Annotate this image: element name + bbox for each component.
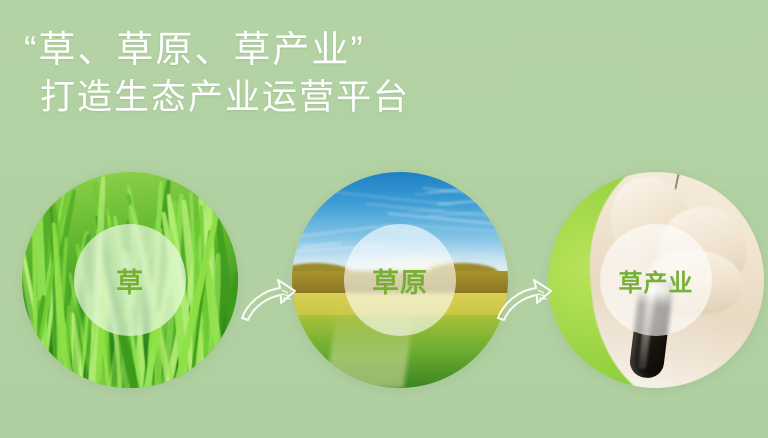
stage-badge-grassland: 草原 (344, 224, 456, 336)
stage-circle-grass[interactable]: 草 (22, 172, 238, 388)
stage-badge-grass-industry: 草产业 (600, 224, 712, 336)
stage-badge-grass: 草 (74, 224, 186, 336)
stage-label-grassland: 草原 (372, 261, 428, 300)
curved-arrow-icon (494, 272, 556, 324)
page-title: “草、草原、草产业” 打造生态产业运营平台 (24, 26, 410, 121)
headline-line-2: 打造生态产业运营平台 (24, 75, 410, 121)
headline-line-1: “草、草原、草产业” (24, 26, 410, 75)
banner-stage: “草、草原、草产业” 打造生态产业运营平台 草 (0, 0, 768, 438)
stage-label-grass-industry: 草产业 (619, 263, 694, 298)
curved-arrow-icon (238, 272, 300, 324)
stage-circle-grass-industry[interactable]: 草产业 (548, 172, 764, 388)
stage-label-grass: 草 (116, 261, 144, 300)
stage-circle-grassland[interactable]: 草原 (292, 172, 508, 388)
